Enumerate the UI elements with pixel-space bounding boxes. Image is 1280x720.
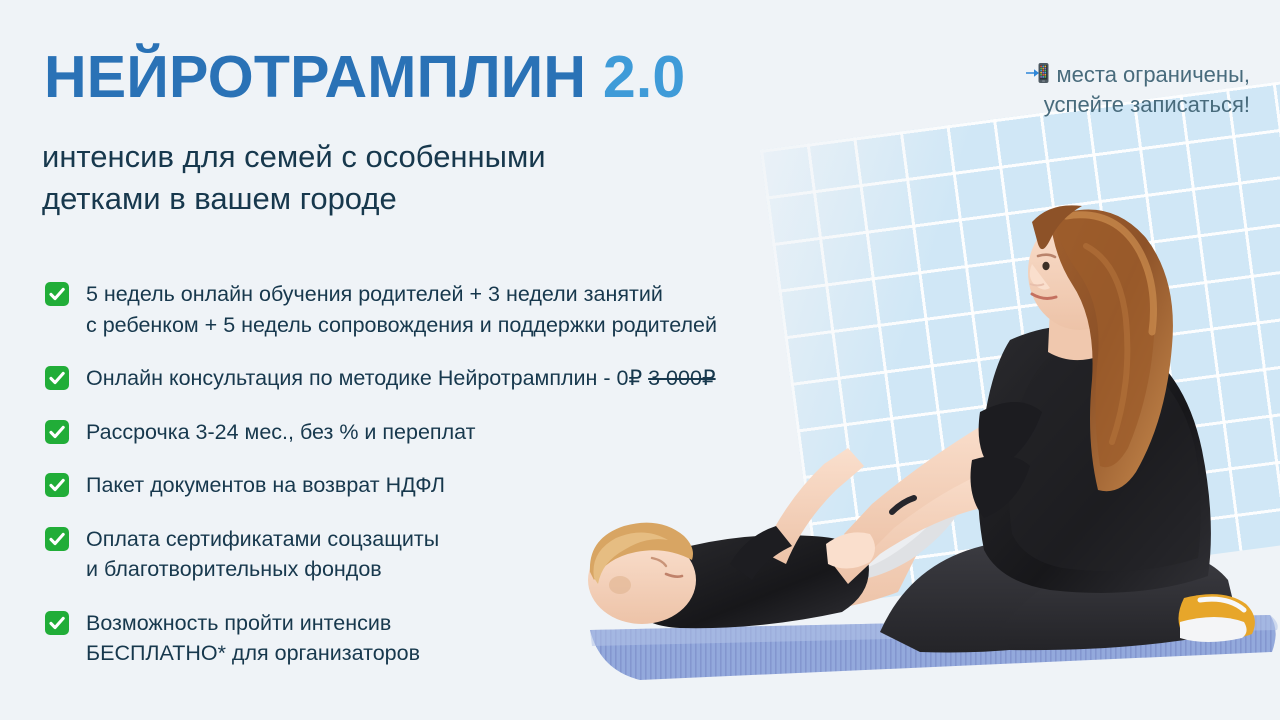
list-item: Оплата сертификатами соцзащиты и благотв… xyxy=(44,523,874,585)
check-mark-button-icon xyxy=(44,526,70,552)
badge-text-line-2: успейте записаться! xyxy=(920,90,1250,120)
page-title: НЕЙРОТРАМПЛИН 2.0 xyxy=(44,48,685,107)
list-item-text: Онлайн консультация по методике Нейротра… xyxy=(86,362,716,394)
mobile-phone-with-arrow-icon xyxy=(1026,61,1050,85)
list-item-text: Рассрочка 3-24 мес., без % и переплат xyxy=(86,416,475,448)
subtitle-line-2: детками в вашем городе xyxy=(42,181,397,216)
limited-seats-badge: места ограничены, успейте записаться! xyxy=(920,60,1250,119)
title-main: НЕЙРОТРАМПЛИН xyxy=(44,44,586,110)
feature-6-line-2: БЕСПЛАТНО* для организаторов xyxy=(86,641,420,665)
subtitle-line-1: интенсив для семей с особенными xyxy=(42,139,546,174)
feature-5-line-1: Оплата сертификатами соцзащиты xyxy=(86,527,439,551)
badge-text-line-1: места ограничены, xyxy=(1057,62,1250,87)
list-item: Онлайн консультация по методике Нейротра… xyxy=(44,362,874,394)
list-item-text: Возможность пройти интенсив БЕСПЛАТНО* д… xyxy=(86,607,420,669)
page-subtitle: интенсив для семей с особенными детками … xyxy=(42,136,722,220)
list-item-text: Пакет документов на возврат НДФЛ xyxy=(86,469,445,501)
feature-6-line-1: Возможность пройти интенсив xyxy=(86,611,391,635)
list-item: Пакет документов на возврат НДФЛ xyxy=(44,469,874,501)
check-mark-button-icon xyxy=(44,472,70,498)
features-list: 5 недель онлайн обучения родителей + 3 н… xyxy=(44,278,874,691)
list-item: Рассрочка 3-24 мес., без % и переплат xyxy=(44,416,874,448)
check-mark-button-icon xyxy=(44,419,70,445)
check-mark-button-icon xyxy=(44,610,70,636)
check-mark-button-icon xyxy=(44,365,70,391)
list-item-text: Оплата сертификатами соцзащиты и благотв… xyxy=(86,523,439,585)
badge-line-1: места ограничены, xyxy=(920,60,1250,90)
feature-1-line-2: с ребенком + 5 недель сопровождения и по… xyxy=(86,313,717,337)
feature-2-price-text: Онлайн консультация по методике Нейротра… xyxy=(86,366,648,390)
text-column: НЕЙРОТРАМПЛИН 2.0 интенсив для семей с о… xyxy=(0,0,900,720)
title-version: 2.0 xyxy=(603,44,686,110)
feature-1-line-1: 5 недель онлайн обучения родителей + 3 н… xyxy=(86,282,663,306)
check-mark-button-icon xyxy=(44,281,70,307)
list-item-text: 5 недель онлайн обучения родителей + 3 н… xyxy=(86,278,717,340)
promo-banner: НЕЙРОТРАМПЛИН 2.0 интенсив для семей с о… xyxy=(0,0,1280,720)
list-item: Возможность пройти интенсив БЕСПЛАТНО* д… xyxy=(44,607,874,669)
feature-2-old-price: 3 000₽ xyxy=(648,366,715,390)
list-item: 5 недель онлайн обучения родителей + 3 н… xyxy=(44,278,874,340)
feature-5-line-2: и благотворительных фондов xyxy=(86,557,382,581)
